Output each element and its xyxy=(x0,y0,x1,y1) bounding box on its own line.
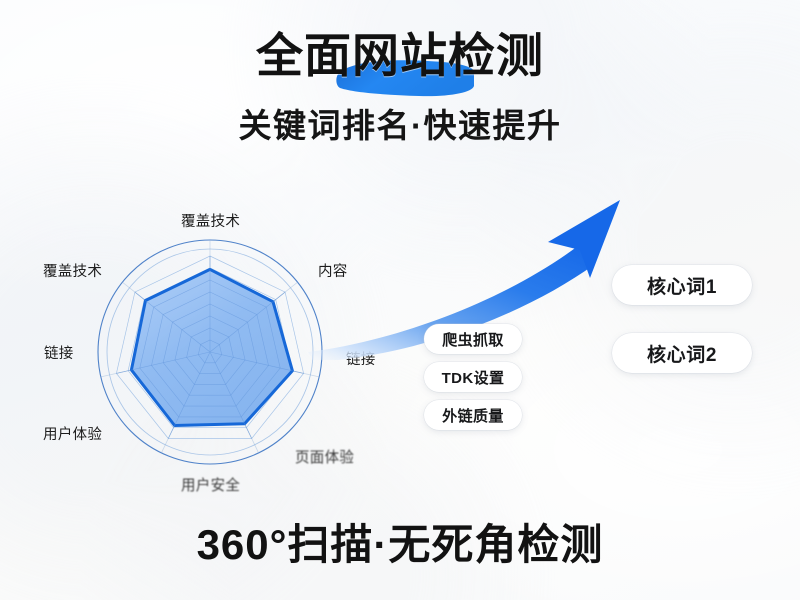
poster-canvas: 全面网站检测 关键词排名·快速提升 xyxy=(0,0,800,600)
keyword-pill-2[interactable]: 核心词2 xyxy=(612,333,752,373)
tag-pill-crawl[interactable]: 爬虫抓取 xyxy=(424,324,522,354)
radar-label: 链接 xyxy=(44,342,74,363)
tag-pill-tdk[interactable]: TDK设置 xyxy=(424,362,522,392)
radar-label: 覆盖技术 xyxy=(43,260,102,281)
radar-chart: 覆盖技术 内容 链接 页面体验 用户安全 用户体验 链接 覆盖技术 xyxy=(20,195,410,515)
page-subtitle: 关键词排名·快速提升 xyxy=(0,99,800,147)
radar-label: 页面体验 xyxy=(295,446,354,467)
keyword-pill-1[interactable]: 核心词1 xyxy=(612,265,752,305)
page-title: 全面网站检测 xyxy=(256,32,544,79)
page-title-text: 全面网站检测 xyxy=(256,29,544,82)
radar-label: 用户体验 xyxy=(43,423,102,444)
radar-label: 用户安全 xyxy=(181,474,240,495)
footer-tagline: 360°扫描·无死角检测 xyxy=(0,511,800,572)
radar-label: 链接 xyxy=(346,348,376,369)
tag-pill-backlink[interactable]: 外链质量 xyxy=(424,400,522,430)
radar-label: 内容 xyxy=(318,260,348,281)
headline-block: 全面网站检测 关键词排名·快速提升 xyxy=(0,32,800,147)
radar-label: 覆盖技术 xyxy=(181,210,240,231)
